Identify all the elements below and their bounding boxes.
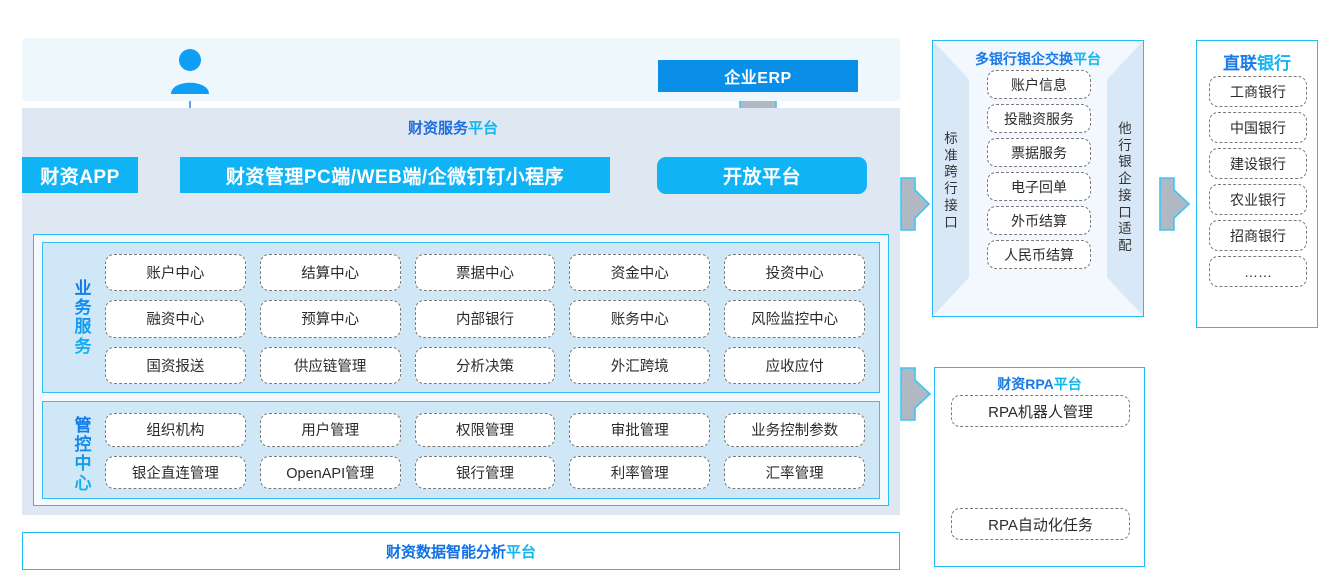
other-bank-adapter-label: 他行银企接口适配 [1115,121,1135,255]
service-cell[interactable]: 国资报送 [105,347,246,384]
platform-title-accent: 平台 [468,120,498,137]
analytics-title-accent: 平台 [506,541,536,562]
services-block: 业务服务 账户中心 结算中心 票据中心 资金中心 投资中心 融资中心 预算中心 … [33,234,889,506]
rpa-automation-task-item[interactable]: RPA自动化任务 [951,508,1130,540]
service-cell[interactable]: 应收应付 [724,347,865,384]
service-cell[interactable]: 供应链管理 [260,347,401,384]
control-center-vertical-label: 管控中心 [67,416,99,493]
control-cell[interactable]: 银行管理 [415,456,556,490]
control-cell[interactable]: 权限管理 [415,413,556,447]
direct-banks-panel: 直联银行 工商银行 中国银行 建设银行 农业银行 招商银行 …… [1196,40,1318,328]
service-cell[interactable]: 外汇跨境 [569,347,710,384]
bank-item[interactable]: 建设银行 [1209,148,1307,179]
rpa-title: 财资RPA平台 [935,374,1144,394]
bank-item[interactable]: 中国银行 [1209,112,1307,143]
platform-title: 财资服务平台 [408,117,498,138]
exchange-items-list: 账户信息 投融资服务 票据服务 电子回单 外币结算 人民币结算 [987,70,1091,269]
rpa-platform-panel: 财资RPA平台 RPA机器人管理 RPA自动化任务 [934,367,1145,567]
exchange-title-accent: 平台 [1073,51,1101,67]
control-cell[interactable]: 业务控制参数 [724,413,865,447]
multibank-exchange-panel: 多银行银企交换平台 标准跨行接口 他行银企接口适配 账户信息 投融资服务 票据服… [932,40,1144,317]
exchange-item[interactable]: 票据服务 [987,138,1091,167]
exchange-title-main: 多银行银企交换 [975,51,1073,67]
enterprise-erp-box[interactable]: 企业ERP [658,60,858,92]
business-services-vertical-label: 业务服务 [67,279,99,356]
direct-banks-title: 直联银行 [1197,49,1317,74]
service-cell[interactable]: 账户中心 [105,254,246,291]
service-cell[interactable]: 投资中心 [724,254,865,291]
service-cell[interactable]: 预算中心 [260,300,401,337]
open-platform-label: 开放平台 [723,162,801,189]
service-cell[interactable]: 账务中心 [569,300,710,337]
exchange-item[interactable]: 投融资服务 [987,104,1091,133]
enterprise-erp-label: 企业ERP [724,64,791,88]
bank-item-more[interactable]: …… [1209,256,1307,287]
rpa-title-accent: 平台 [1054,376,1082,392]
treasury-app-button[interactable]: 财资APP [22,157,138,193]
control-cell[interactable]: 用户管理 [260,413,401,447]
bank-item[interactable]: 工商银行 [1209,76,1307,107]
bank-item[interactable]: 农业银行 [1209,184,1307,215]
control-cell[interactable]: 利率管理 [569,456,710,490]
exchange-item[interactable]: 账户信息 [987,70,1091,99]
control-cell[interactable]: 汇率管理 [724,456,865,490]
exchange-item[interactable]: 人民币结算 [987,240,1091,269]
service-cell[interactable]: 风险监控中心 [724,300,865,337]
business-services-grid: 账户中心 结算中心 票据中心 资金中心 投资中心 融资中心 预算中心 内部银行 … [105,254,865,384]
service-cell[interactable]: 融资中心 [105,300,246,337]
treasury-pc-web-button[interactable]: 财资管理PC端/WEB端/企微钉钉小程序 [180,157,610,193]
control-center-grid: 组织机构 用户管理 权限管理 审批管理 业务控制参数 银企直连管理 OpenAP… [105,413,865,489]
treasury-app-label: 财资APP [40,162,120,189]
data-analytics-platform-bar: 财资数据智能分析平台 [22,532,900,570]
standard-interbank-interface-label: 标准跨行接口 [941,131,961,231]
service-cell[interactable]: 结算中心 [260,254,401,291]
banks-title-main: 直联 [1223,54,1257,73]
control-center-group: 管控中心 组织机构 用户管理 权限管理 审批管理 业务控制参数 银企直连管理 O… [42,401,880,499]
platform-title-main: 财资服务 [408,120,468,137]
control-cell[interactable]: 审批管理 [569,413,710,447]
open-platform-button[interactable]: 开放平台 [657,157,867,194]
service-cell[interactable]: 内部银行 [415,300,556,337]
exchange-item[interactable]: 电子回单 [987,172,1091,201]
control-cell[interactable]: 组织机构 [105,413,246,447]
control-cell[interactable]: OpenAPI管理 [260,456,401,490]
bank-item[interactable]: 招商银行 [1209,220,1307,251]
exchange-title: 多银行银企交换平台 [933,49,1143,69]
service-cell[interactable]: 分析决策 [415,347,556,384]
service-cell[interactable]: 资金中心 [569,254,710,291]
exchange-item[interactable]: 外币结算 [987,206,1091,235]
banks-title-accent: 银行 [1257,54,1291,73]
treasury-pc-web-label: 财资管理PC端/WEB端/企微钉钉小程序 [226,162,564,189]
analytics-title-main: 财资数据智能分析 [386,541,506,562]
control-cell[interactable]: 银企直连管理 [105,456,246,490]
rpa-title-main: 财资RPA [997,376,1054,392]
business-services-group: 业务服务 账户中心 结算中心 票据中心 资金中心 投资中心 融资中心 预算中心 … [42,242,880,393]
user-avatar-icon [168,48,212,94]
direct-banks-list: 工商银行 中国银行 建设银行 农业银行 招商银行 …… [1209,76,1307,287]
service-cell[interactable]: 票据中心 [415,254,556,291]
rpa-robot-management-item[interactable]: RPA机器人管理 [951,395,1130,427]
